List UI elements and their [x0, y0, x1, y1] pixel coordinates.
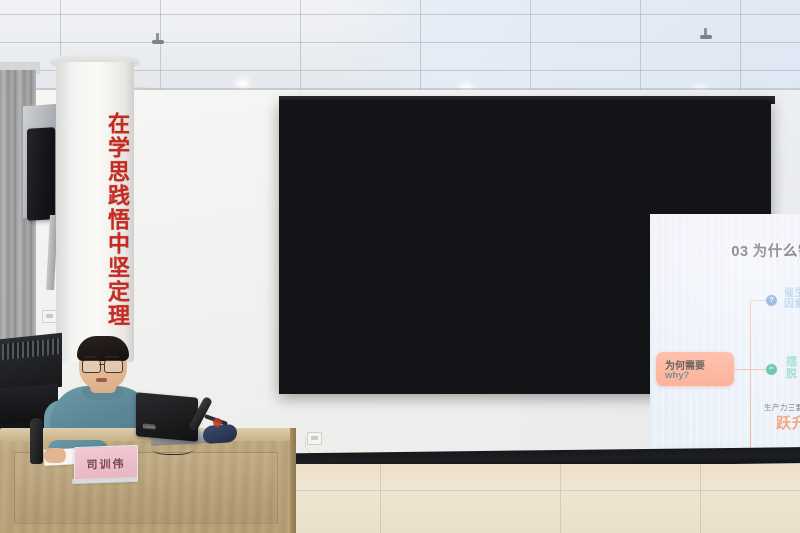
mindmap-root-node: 为何需要 why?	[656, 352, 734, 386]
floor-tile-seam	[700, 464, 701, 533]
glasses-bridge	[99, 364, 104, 365]
sprinkler-head-icon	[152, 33, 164, 46]
slide-section-number: 03	[731, 244, 748, 260]
projection-screen-frame: 03为什么需要新质生产力 为何需要 why? ? 催生因素 技术革命性突破 生产…	[279, 100, 771, 394]
recessed-downlight	[238, 81, 247, 86]
scissors-icon: ✂	[766, 364, 777, 375]
root-label-en: why?	[665, 370, 689, 381]
microphone-base[interactable]	[203, 424, 237, 444]
glasses-lens-right	[104, 360, 123, 373]
wall-speaker	[27, 127, 55, 220]
desk-right-edge	[290, 428, 296, 533]
ceiling-grid-line	[640, 0, 641, 96]
laptop-lid[interactable]	[136, 392, 198, 441]
eyebrow-left	[83, 356, 97, 358]
branch-label-cause: 催生因素	[784, 289, 800, 310]
eyebrow-right	[105, 356, 119, 358]
name-placard-text: 司训伟	[75, 455, 137, 473]
presenter-hand	[44, 448, 66, 463]
floor-tile-seam	[380, 464, 381, 533]
floor-tile-seam	[560, 464, 561, 533]
table-microphone[interactable]	[30, 418, 43, 464]
laptop-brand-logo: Lenovo	[143, 423, 155, 429]
ceiling-grid-line	[420, 0, 421, 96]
ceiling-grid-line	[160, 0, 161, 96]
mindmap-connector	[750, 300, 751, 452]
sprinkler-head-icon	[700, 28, 712, 41]
ceiling-grid-line	[740, 0, 741, 96]
mindmap-connector	[734, 369, 750, 370]
glasses-lens-left	[82, 360, 101, 373]
ceiling-grid-line	[530, 0, 531, 96]
presenter-mouth	[96, 378, 107, 382]
projected-slide: 03为什么需要新质生产力 为何需要 why? ? 催生因素 技术革命性突破 生产…	[650, 214, 800, 476]
mindmap-connector	[750, 300, 766, 301]
laptop-cable	[152, 440, 194, 455]
mindmap-connector	[750, 369, 766, 370]
lecture-hall-photo: 在学思践悟中坚定理 03为什么需要新质生产力 为何需要 why? ? 催生因素	[0, 0, 800, 533]
wall-socket[interactable]	[42, 310, 57, 323]
question-mark-icon: ?	[766, 295, 777, 306]
ceiling-grid-line	[300, 0, 301, 96]
slide-title-text: 为什么需要新质生产力	[753, 244, 800, 260]
slide-title: 03为什么需要新质生产力	[650, 240, 800, 261]
pillar-calligraphy: 在学思践悟中坚定理	[96, 112, 130, 328]
triad-headline: 跃升	[776, 412, 800, 433]
ceiling-grid-line	[0, 14, 800, 15]
ceiling-grid-line	[0, 42, 800, 43]
microphone-indicator-light	[213, 418, 222, 427]
branch-label-break-free: 摆脱	[786, 357, 798, 380]
